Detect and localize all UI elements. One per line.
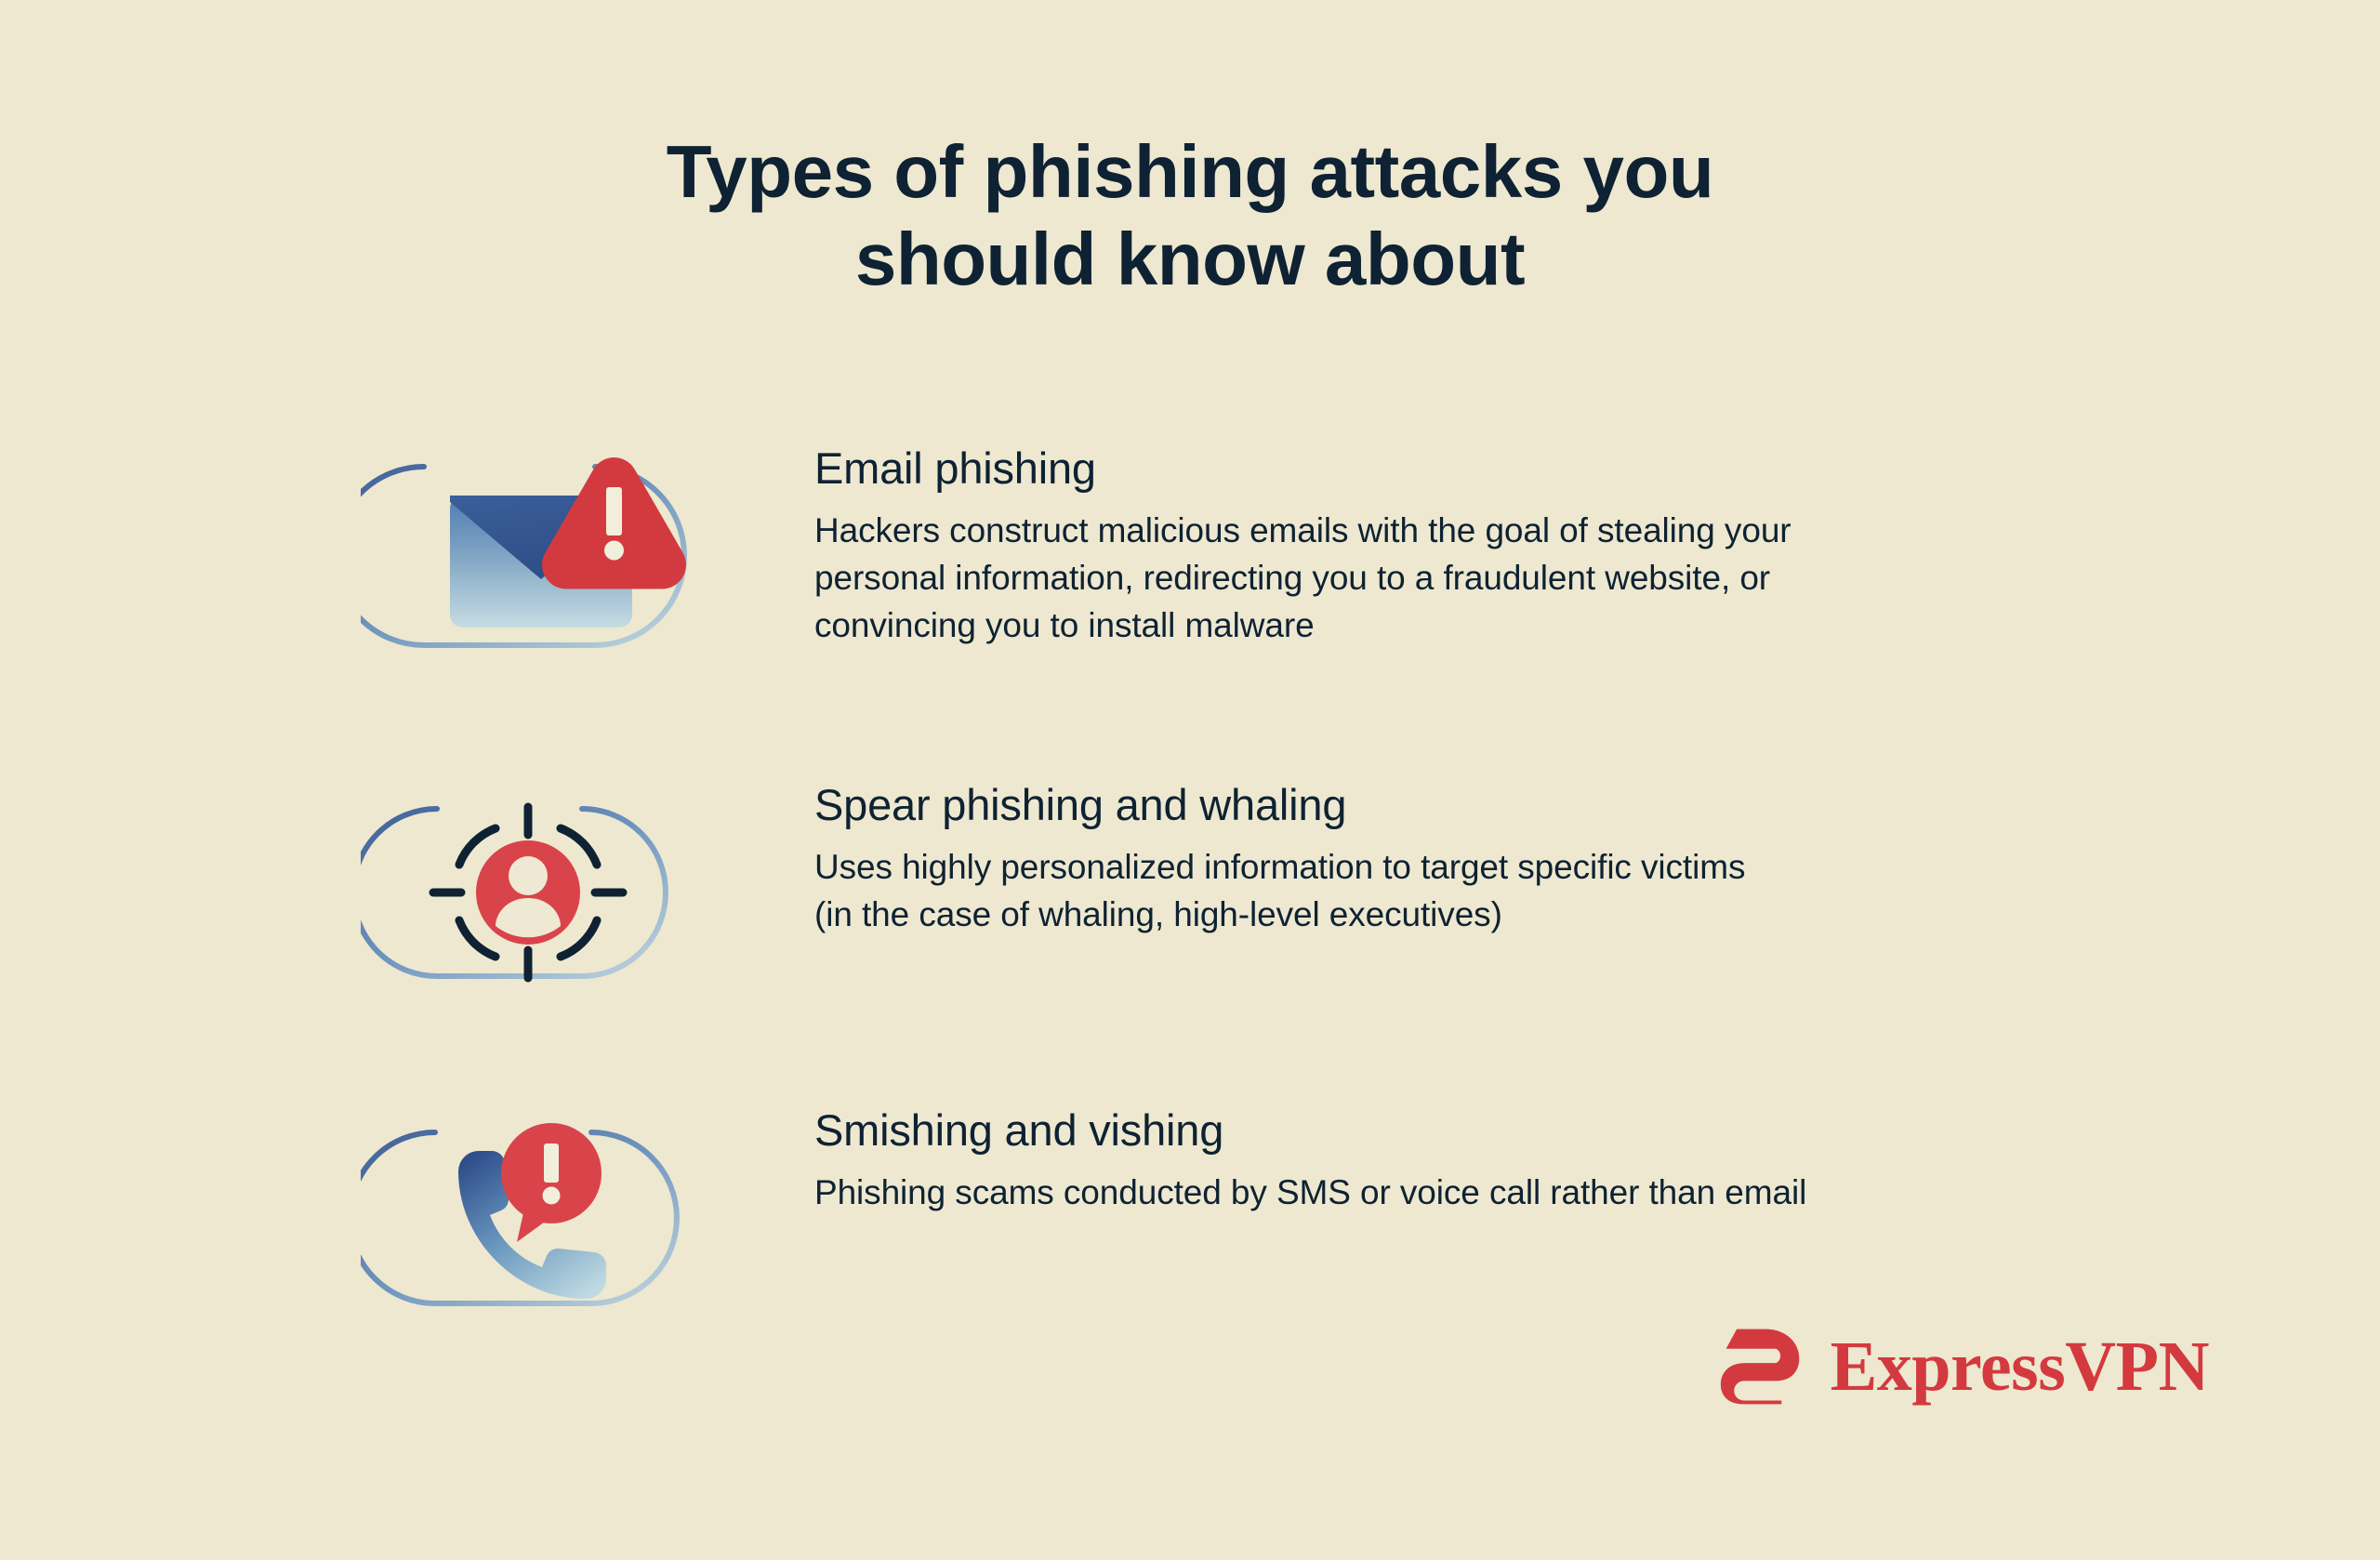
infographic-page: Types of phishing attacks you should kno… bbox=[0, 0, 2380, 1560]
target-person-icon bbox=[361, 781, 733, 1004]
list-item: Smishing and vishing Phishing scams cond… bbox=[0, 1106, 2380, 1348]
phone-alert-icon bbox=[361, 1106, 733, 1329]
item-text-column: Email phishing Hackers construct malicio… bbox=[814, 444, 2190, 649]
item-body: Phishing scams conducted by SMS or voice… bbox=[814, 1169, 2190, 1216]
item-text-column: Smishing and vishing Phishing scams cond… bbox=[814, 1106, 2190, 1216]
item-body-line: Phishing scams conducted by SMS or voice… bbox=[814, 1169, 2190, 1216]
item-body-line: convincing you to install malware bbox=[814, 602, 2190, 649]
item-body: Hackers construct malicious emails with … bbox=[814, 507, 2190, 649]
item-body-line: (in the case of whaling, high-level exec… bbox=[814, 891, 2190, 938]
expressvpn-wordmark: ExpressVPN bbox=[1831, 1331, 2209, 1402]
item-heading: Spear phishing and whaling bbox=[814, 781, 2190, 830]
page-title-line-2: should know about bbox=[0, 216, 2380, 303]
expressvpn-logo: ExpressVPN bbox=[1717, 1322, 2209, 1411]
list-item: Spear phishing and whaling Uses highly p… bbox=[0, 781, 2380, 1023]
expressvpn-logo-mark bbox=[1717, 1322, 1806, 1411]
item-body-line: Hackers construct malicious emails with … bbox=[814, 507, 2190, 554]
item-body: Uses highly personalized information to … bbox=[814, 843, 2190, 938]
list-item: Email phishing Hackers construct malicio… bbox=[0, 444, 2380, 686]
page-title: Types of phishing attacks you should kno… bbox=[0, 128, 2380, 302]
page-title-line-1: Types of phishing attacks you bbox=[0, 128, 2380, 216]
item-text-column: Spear phishing and whaling Uses highly p… bbox=[814, 781, 2190, 938]
email-warning-icon bbox=[361, 444, 733, 668]
item-heading: Email phishing bbox=[814, 444, 2190, 494]
item-heading: Smishing and vishing bbox=[814, 1106, 2190, 1156]
item-body-line: personal information, redirecting you to… bbox=[814, 554, 2190, 602]
item-body-line: Uses highly personalized information to … bbox=[814, 843, 2190, 891]
